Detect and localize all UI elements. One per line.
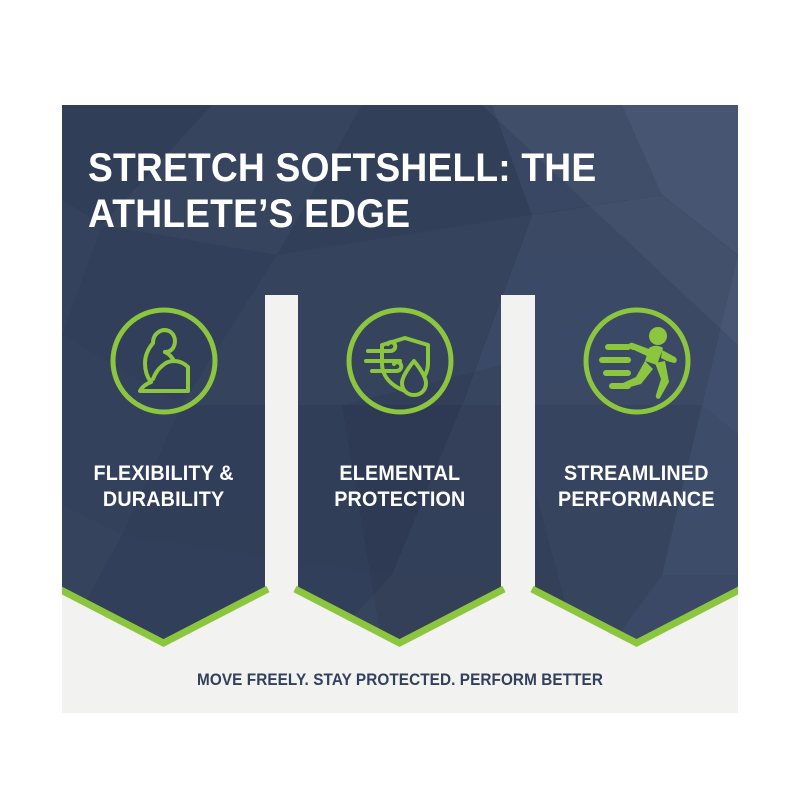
tagline: MOVE FREELY. STAY PROTECTED. PERFORM BET… <box>96 670 704 690</box>
running-person-icon <box>579 303 695 419</box>
title-line-1: STRETCH SOFTSHELL: THE <box>88 145 646 191</box>
flexed-bicep-icon <box>106 303 222 419</box>
feature-column-flexibility[interactable]: FLEXIBILITY & DURABILITY <box>62 295 265 655</box>
feature-column-protection[interactable]: ELEMENTAL PROTECTION <box>298 295 501 655</box>
feature-label-performance: STREAMLINED PERFORMANCE <box>558 461 715 513</box>
shield-wind-droplet-icon <box>342 303 458 419</box>
feature-label-flexibility: FLEXIBILITY & DURABILITY <box>93 461 233 513</box>
infographic-canvas: STRETCH SOFTSHELL: THE ATHLETE’S EDGE FL… <box>62 105 738 713</box>
feature-column-performance[interactable]: STREAMLINED PERFORMANCE <box>535 295 738 655</box>
page-title: STRETCH SOFTSHELL: THE ATHLETE’S EDGE <box>88 145 688 237</box>
infographic-root: STRETCH SOFTSHELL: THE ATHLETE’S EDGE FL… <box>0 0 800 800</box>
feature-label-protection: ELEMENTAL PROTECTION <box>334 461 465 513</box>
title-line-2: ATHLETE’S EDGE <box>88 191 646 237</box>
